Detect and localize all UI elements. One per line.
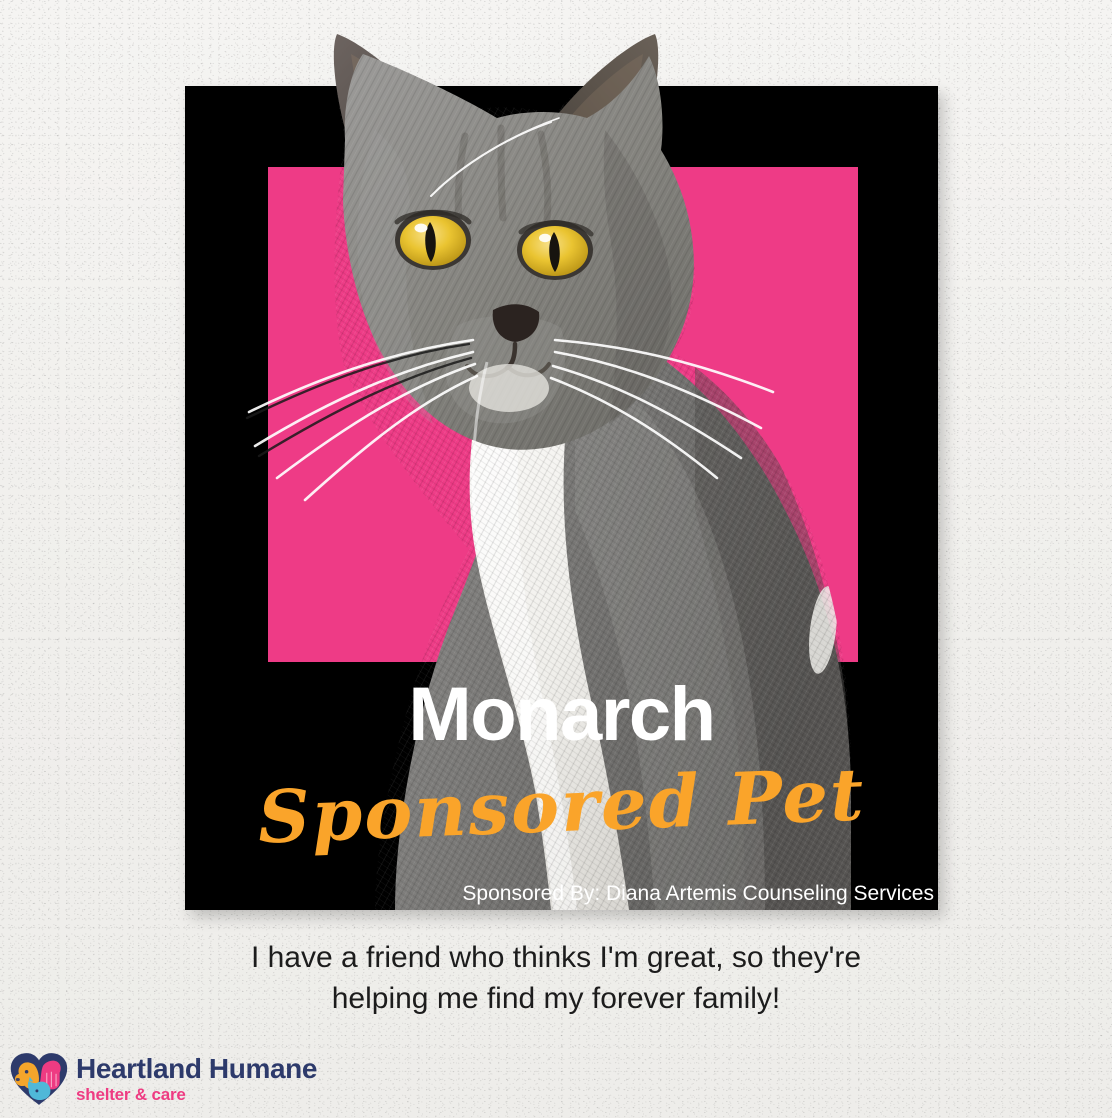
caption-line-2: helping me find my forever family! xyxy=(0,978,1112,1019)
pet-name: Monarch xyxy=(185,674,938,756)
logo-wordmark: Heartland Humane shelter & care xyxy=(76,1055,317,1103)
sponsored-pet-script-label: Sponsored Pet xyxy=(183,744,939,869)
heartland-humane-logo[interactable]: Heartland Humane shelter & care xyxy=(8,1046,338,1112)
logo-title: Heartland Humane xyxy=(76,1055,317,1083)
pink-accent-square xyxy=(268,167,858,662)
caption-line-1: I have a friend who thinks I'm great, so… xyxy=(0,937,1112,978)
sponsored-pet-poster: Monarch Sponsored Pet Sponsored By: Dian… xyxy=(185,86,938,910)
sponsor-credit: Sponsored By: Diana Artemis Counseling S… xyxy=(462,881,934,907)
adoption-caption: I have a friend who thinks I'm great, so… xyxy=(0,937,1112,1019)
heart-paw-logo-icon xyxy=(8,1050,70,1108)
logo-tagline: shelter & care xyxy=(76,1086,317,1103)
